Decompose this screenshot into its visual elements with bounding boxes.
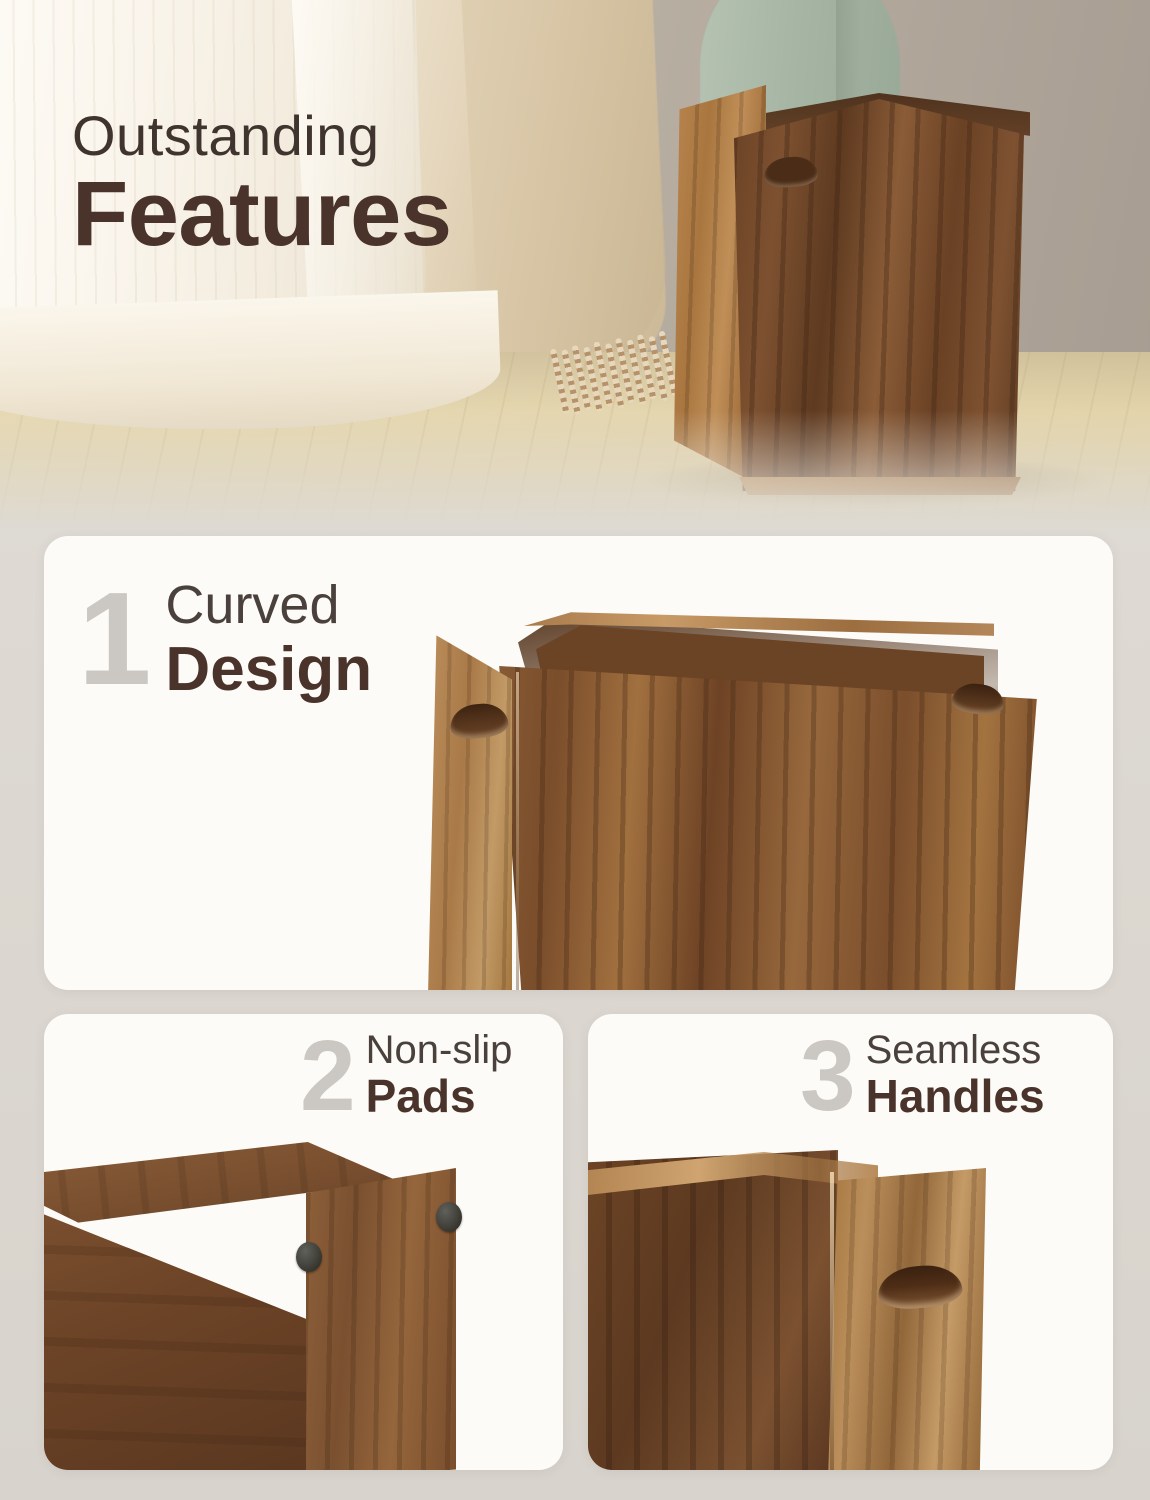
feature-1-heading: 1 Curved Design	[78, 578, 372, 702]
hero-fade-overlay	[0, 410, 1150, 530]
feature-1-number: 1	[78, 578, 151, 699]
feature-2-label-thin: Non-slip	[366, 1030, 513, 1070]
feature-3-label-bold: Handles	[866, 1073, 1045, 1121]
bin-side-face-right	[306, 1168, 456, 1470]
feature-1-label-bold: Design	[165, 638, 372, 702]
feature-2-number: 2	[300, 1030, 356, 1122]
bin-side-face-left	[44, 1192, 308, 1470]
hero-lifestyle-photo	[0, 0, 1150, 530]
page-title-thin: Outstanding	[72, 108, 452, 164]
hero-banner: Outstanding Features	[0, 0, 1150, 530]
feature-1-label-thin: Curved	[165, 578, 372, 632]
feature-1-image	[428, 606, 1113, 990]
non-slip-pad-front-icon	[296, 1242, 322, 1272]
feature-2-image	[44, 1142, 468, 1470]
feature-2-label-bold: Pads	[366, 1073, 513, 1121]
bin-corner-seam	[516, 672, 519, 990]
page-title: Outstanding Features	[72, 108, 452, 262]
bin-corner-seam	[830, 1172, 834, 1470]
feature-2-heading: 2 Non-slip Pads	[300, 1030, 512, 1122]
non-slip-pad-back-icon	[436, 1202, 462, 1232]
feature-3-image	[588, 1150, 998, 1470]
feature-3-label-thin: Seamless	[866, 1030, 1045, 1070]
bin-interior-wall	[588, 1150, 838, 1470]
feature-infographic-page: Outstanding Features 1 Curved Design	[0, 0, 1150, 1500]
feature-3-number: 3	[800, 1030, 856, 1122]
feature-3-heading: 3 Seamless Handles	[800, 1030, 1045, 1122]
bin-left-face	[428, 628, 512, 990]
bin-front-panel-closeup	[828, 1168, 986, 1470]
page-title-bold: Features	[72, 168, 452, 262]
bin-front-face	[488, 666, 1048, 990]
